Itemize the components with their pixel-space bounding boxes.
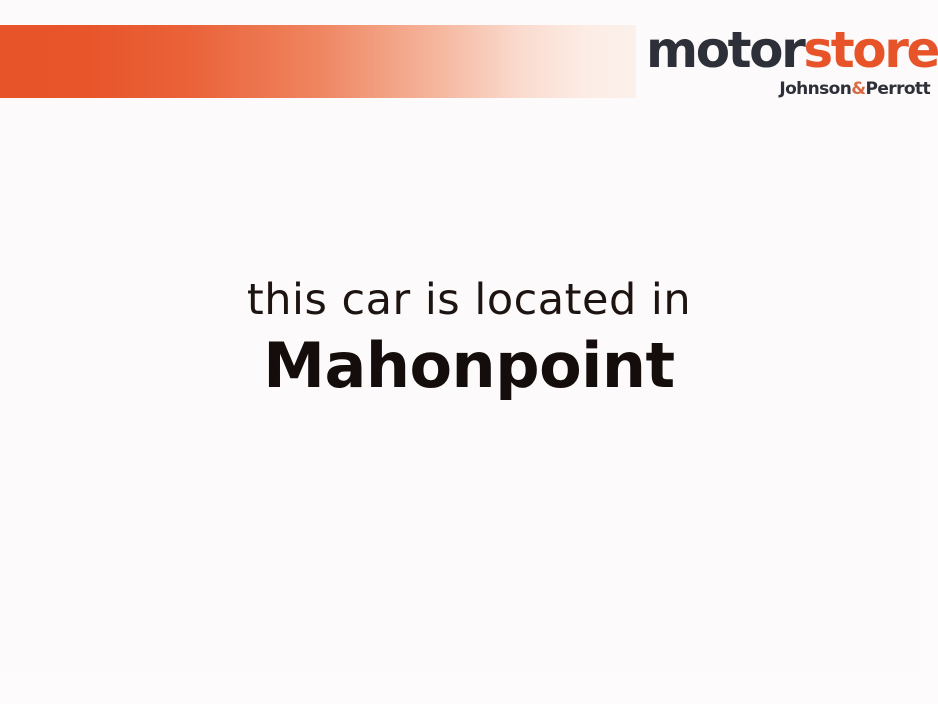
location-message: this car is located in Mahonpoint — [0, 272, 938, 404]
location-message-place-name: Mahonpoint — [0, 328, 938, 404]
logo-wordmark-motor: motor — [646, 21, 803, 79]
logo-subtitle: Johnson&Perrott — [646, 79, 930, 99]
motorstore-logo: motorstore Johnson&Perrott — [646, 22, 932, 102]
orange-gradient-bar — [0, 25, 636, 98]
header: motorstore Johnson&Perrott — [0, 0, 938, 110]
location-message-intro: this car is located in — [0, 272, 938, 328]
logo-subtitle-perrott: Perrott — [866, 79, 931, 99]
slide-canvas: motorstore Johnson&Perrott this car is l… — [0, 0, 938, 704]
logo-subtitle-johnson: Johnson — [779, 79, 851, 99]
logo-wordmark: motorstore — [646, 25, 932, 75]
logo-subtitle-ampersand-icon: & — [851, 79, 865, 99]
logo-wordmark-store: store — [803, 21, 938, 79]
